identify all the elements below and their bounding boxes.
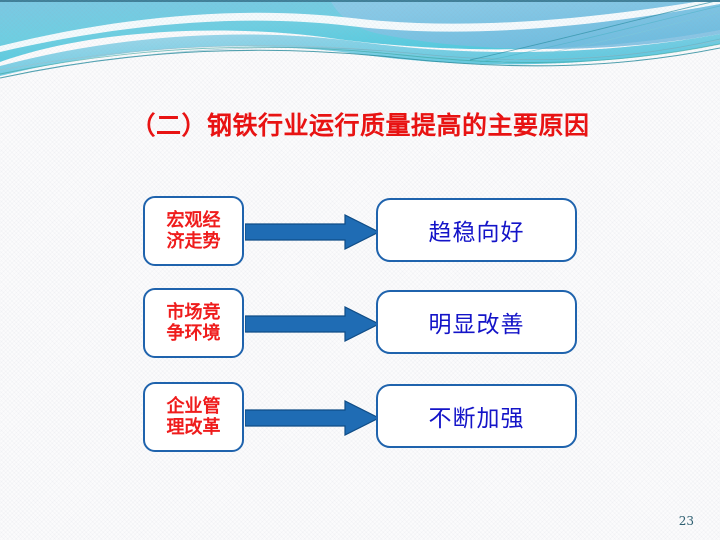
cause-box-2[interactable]: 市场竞 争环境 [143,288,244,358]
effect-label-3: 不断加强 [429,399,525,433]
page-number: 23 [679,514,694,528]
right-arrow-icon-2 [245,306,380,342]
diagram-row: 宏观经 济走势 趋稳向好 [0,196,720,276]
cause-label-line-1: 市场竞 [167,302,221,323]
cause-label-line-2: 济走势 [167,231,221,252]
cause-box-1[interactable]: 宏观经 济走势 [143,196,244,266]
effect-label-1: 趋稳向好 [429,213,525,247]
slide-canvas: （二）钢铁行业运行质量提高的主要原因 宏观经 济走势 趋稳向好 市场竞 争环境 [0,0,720,540]
effect-label-2: 明显改善 [429,305,525,339]
cause-label-line-2: 争环境 [167,323,221,344]
cause-label-line-1: 企业管 [167,396,221,417]
diagram-row: 市场竞 争环境 明显改善 [0,288,720,368]
effect-box-1[interactable]: 趋稳向好 [376,198,577,262]
cause-label-line-2: 理改革 [167,417,221,438]
right-arrow-icon-1 [245,214,380,250]
diagram-row: 企业管 理改革 不断加强 [0,382,720,462]
effect-box-3[interactable]: 不断加强 [376,384,577,448]
cause-box-3[interactable]: 企业管 理改革 [143,382,244,452]
cause-label-line-1: 宏观经 [167,210,221,231]
cause-effect-diagram: 宏观经 济走势 趋稳向好 市场竞 争环境 明显改善 [0,0,720,540]
effect-box-2[interactable]: 明显改善 [376,290,577,354]
right-arrow-icon-3 [245,400,380,436]
